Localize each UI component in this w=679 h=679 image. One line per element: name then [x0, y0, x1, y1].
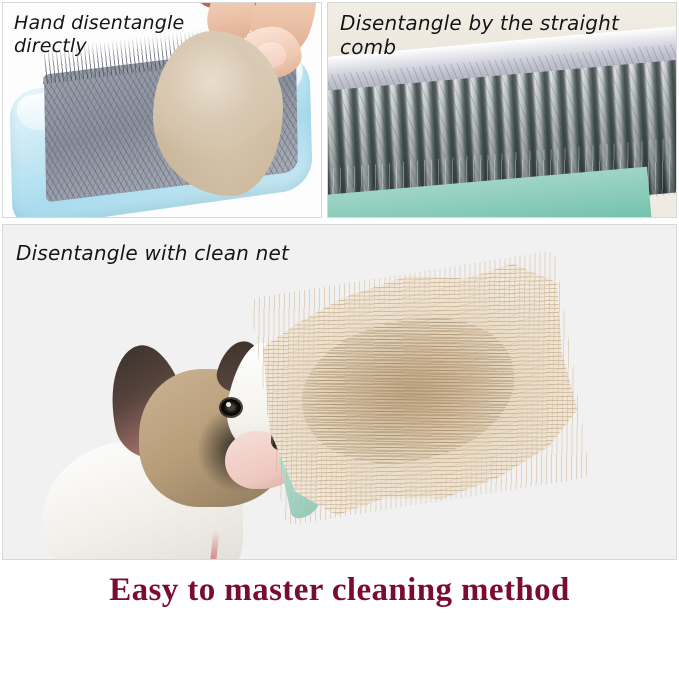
panel-comb-caption: Disentangle by the straight comb [340, 11, 676, 60]
panel-hand-caption: Hand disentangle directly [14, 12, 184, 58]
panel-net-caption: Disentangle with clean net [16, 241, 289, 265]
panel-straight-comb: Disentangle by the straight comb [327, 2, 677, 218]
bottom-headline: Easy to master cleaning method [0, 572, 679, 609]
panel-hand-disentangle: Hand disentangle directly [2, 2, 322, 218]
dog-eye [221, 399, 241, 416]
cleaning-net-sheet [249, 250, 591, 526]
net-frayed-edge [249, 250, 591, 526]
infographic-page: Hand disentangle directly Disentangle by… [0, 0, 679, 679]
panel-clean-net: Disentangle with clean net [2, 224, 677, 560]
dog-eye-highlight [226, 402, 231, 407]
